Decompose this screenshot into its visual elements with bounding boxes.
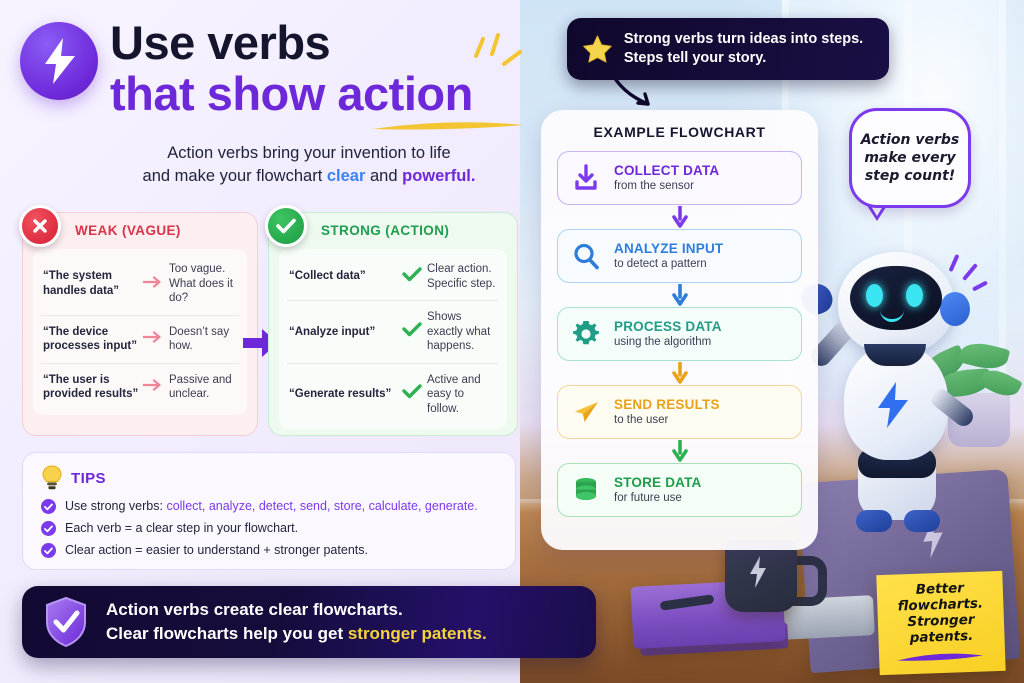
weak-row-quote: “The device processes input” bbox=[43, 325, 139, 354]
magnifier-icon bbox=[568, 242, 604, 270]
sparkle-icon bbox=[470, 30, 526, 76]
star-icon bbox=[583, 29, 612, 69]
flow-step-title: SEND RESULTS bbox=[614, 397, 720, 413]
strong-row: “Collect data” Clear action. Specific st… bbox=[287, 253, 499, 300]
subtitle: Action verbs bring your invention to lif… bbox=[84, 142, 534, 188]
flow-step-text: STORE DATA for future use bbox=[614, 475, 702, 506]
callout-banner: Strong verbs turn ideas into steps. Step… bbox=[567, 18, 889, 80]
weak-row-quote: “The system handles data” bbox=[43, 269, 139, 298]
tip-prefix: Use strong verbs: bbox=[65, 499, 166, 513]
footer-line-2: Clear flowcharts help you get stronger p… bbox=[106, 622, 487, 646]
check-icon bbox=[397, 384, 427, 404]
paper-plane-icon bbox=[568, 398, 604, 426]
strong-row-quote: “Analyze input” bbox=[289, 325, 397, 340]
arrow-right-icon bbox=[139, 378, 169, 396]
robot-eye-right bbox=[906, 284, 923, 307]
footer-text: Action verbs create clear flowcharts. Cl… bbox=[106, 598, 487, 646]
shield-check-icon bbox=[44, 596, 88, 648]
check-badge-icon bbox=[41, 499, 56, 514]
flow-step-title: STORE DATA bbox=[614, 475, 702, 491]
strong-row-quote: “Collect data” bbox=[289, 269, 397, 284]
tip-text: Each verb = a clear step in your flowcha… bbox=[65, 520, 298, 536]
mug-bolt-icon bbox=[748, 556, 768, 588]
check-icon bbox=[397, 267, 427, 287]
lightning-bolt-icon bbox=[42, 38, 76, 84]
subtitle-line-2a: and make your flowchart bbox=[143, 167, 327, 185]
check-icon bbox=[276, 218, 296, 234]
footer-banner: Action verbs create clear flowcharts. Cl… bbox=[22, 586, 596, 658]
spark-line bbox=[949, 254, 960, 272]
flow-step-store-data[interactable]: STORE DATA for future use bbox=[557, 463, 802, 517]
flow-step-title: COLLECT DATA bbox=[614, 163, 719, 179]
strong-row-quote: “Generate results” bbox=[289, 387, 397, 402]
check-circle-icon bbox=[265, 205, 307, 247]
weak-row-quote: “The user is provided results” bbox=[43, 373, 139, 402]
robot-foot-left bbox=[856, 510, 892, 532]
weak-row-result: Doesn’t say how. bbox=[169, 325, 237, 354]
subtitle-and: and bbox=[365, 167, 402, 185]
flow-step-collect-data[interactable]: COLLECT DATA from the sensor bbox=[557, 151, 802, 205]
weak-card: WEAK (VAGUE) “The system handles data” T… bbox=[22, 212, 258, 436]
footer-line-2-plain: Clear flowcharts help you get bbox=[106, 624, 348, 643]
x-icon bbox=[31, 217, 49, 235]
download-icon bbox=[568, 164, 604, 192]
infographic-canvas: Better flowcharts. Stronger patents. bbox=[0, 0, 1024, 683]
arrow-down-icon bbox=[557, 283, 802, 307]
arrow-down-icon bbox=[557, 205, 802, 229]
subtitle-clear: clear bbox=[327, 167, 366, 185]
tip-item: Clear action = easier to understand + st… bbox=[41, 542, 497, 558]
tips-header: TIPS bbox=[41, 465, 497, 491]
strong-row-result: Clear action. Specific step. bbox=[427, 262, 497, 291]
logo-badge bbox=[20, 22, 98, 100]
speech-bubble: Action verbs make every step count! bbox=[849, 108, 971, 208]
flow-step-analyze-input[interactable]: ANALYZE INPUT to detect a pattern bbox=[557, 229, 802, 283]
spark-line bbox=[962, 263, 978, 281]
tips-heading: TIPS bbox=[71, 470, 106, 487]
strong-card-rows: “Collect data” Clear action. Specific st… bbox=[279, 249, 507, 429]
robot-foot-right bbox=[904, 510, 940, 532]
tip-text: Use strong verbs: collect, analyze, dete… bbox=[65, 498, 478, 514]
flow-step-text: SEND RESULTS to the user bbox=[614, 397, 720, 428]
arrow-right-icon bbox=[139, 330, 169, 348]
speech-bubble-text: Action verbs make every step count! bbox=[852, 131, 968, 185]
tip-text: Clear action = easier to understand + st… bbox=[65, 542, 368, 558]
curved-arrow-down-icon bbox=[612, 78, 662, 110]
flow-step-text: COLLECT DATA from the sensor bbox=[614, 163, 719, 194]
title-underline-swoosh bbox=[371, 122, 526, 131]
arrow-right-icon bbox=[139, 275, 169, 293]
flow-step-send-results[interactable]: SEND RESULTS to the user bbox=[557, 385, 802, 439]
footer-line-2-highlight: stronger patents. bbox=[348, 624, 487, 643]
flow-step-subtitle: to the user bbox=[614, 413, 720, 428]
callout-text-highlight: Steps tell your story. bbox=[624, 50, 766, 66]
robot-eye-left bbox=[866, 284, 883, 307]
sticky-underline-swoosh bbox=[895, 651, 987, 664]
robot-mascot bbox=[800, 248, 990, 548]
tip-item: Each verb = a clear step in your flowcha… bbox=[41, 520, 497, 536]
sticky-line-4: patents. bbox=[884, 627, 998, 647]
subtitle-powerful: powerful. bbox=[402, 167, 475, 185]
tips-panel: TIPS Use strong verbs: collect, analyze,… bbox=[22, 452, 516, 570]
spark-line bbox=[972, 280, 988, 291]
strong-row: “Analyze input” Shows exactly what happe… bbox=[287, 300, 499, 363]
flow-step-title: ANALYZE INPUT bbox=[614, 241, 723, 257]
flowchart-panel: EXAMPLE FLOWCHART COLLECT DATA from the … bbox=[541, 110, 818, 550]
weak-row: “The user is provided results” Passive a… bbox=[41, 363, 239, 411]
strong-row: “Generate results” Active and easy to fo… bbox=[287, 363, 499, 426]
tip-item: Use strong verbs: collect, analyze, dete… bbox=[41, 498, 497, 514]
flow-step-subtitle: from the sensor bbox=[614, 179, 719, 194]
flowchart-title: EXAMPLE FLOWCHART bbox=[557, 124, 802, 140]
flow-step-process-data[interactable]: PROCESS DATA using the algorithm bbox=[557, 307, 802, 361]
strong-card: STRONG (ACTION) “Collect data” Clear act… bbox=[268, 212, 518, 436]
flow-step-text: ANALYZE INPUT to detect a pattern bbox=[614, 241, 723, 272]
flow-step-text: PROCESS DATA using the algorithm bbox=[614, 319, 722, 350]
gear-icon bbox=[568, 320, 604, 348]
sticky-note: Better flowcharts. Stronger patents. bbox=[876, 571, 1005, 675]
lightbulb-icon bbox=[41, 465, 63, 491]
robot-ear bbox=[940, 292, 970, 326]
check-badge-icon bbox=[41, 543, 56, 558]
database-icon bbox=[568, 476, 604, 504]
weak-row-result: Passive and unclear. bbox=[169, 373, 237, 402]
callout-text-plain: Strong verbs turn ideas into steps. bbox=[624, 31, 863, 47]
weak-card-rows: “The system handles data” Too vague. Wha… bbox=[33, 249, 247, 415]
callout-text: Strong verbs turn ideas into steps. Step… bbox=[624, 30, 889, 68]
check-icon bbox=[397, 322, 427, 342]
strong-row-result: Active and easy to follow. bbox=[427, 373, 497, 417]
flow-step-title: PROCESS DATA bbox=[614, 319, 722, 335]
flow-step-subtitle: to detect a pattern bbox=[614, 257, 723, 272]
flow-step-subtitle: using the algorithm bbox=[614, 335, 722, 350]
arrow-down-icon bbox=[557, 361, 802, 385]
arrow-down-icon bbox=[557, 439, 802, 463]
footer-line-1: Action verbs create clear flowcharts. bbox=[106, 598, 487, 622]
robot-chest-bolt-icon bbox=[872, 380, 914, 430]
weak-row-result: Too vague. What does it do? bbox=[169, 262, 237, 306]
strong-row-result: Shows exactly what happens. bbox=[427, 310, 497, 354]
subtitle-line-1: Action verbs bring your invention to lif… bbox=[167, 144, 450, 162]
weak-row: “The device processes input” Doesn’t say… bbox=[41, 315, 239, 363]
weak-row: “The system handles data” Too vague. Wha… bbox=[41, 253, 239, 315]
flow-step-subtitle: for future use bbox=[614, 491, 702, 506]
tip-verbs: collect, analyze, detect, send, store, c… bbox=[166, 499, 477, 513]
check-badge-icon bbox=[41, 521, 56, 536]
x-circle-icon bbox=[19, 205, 61, 247]
